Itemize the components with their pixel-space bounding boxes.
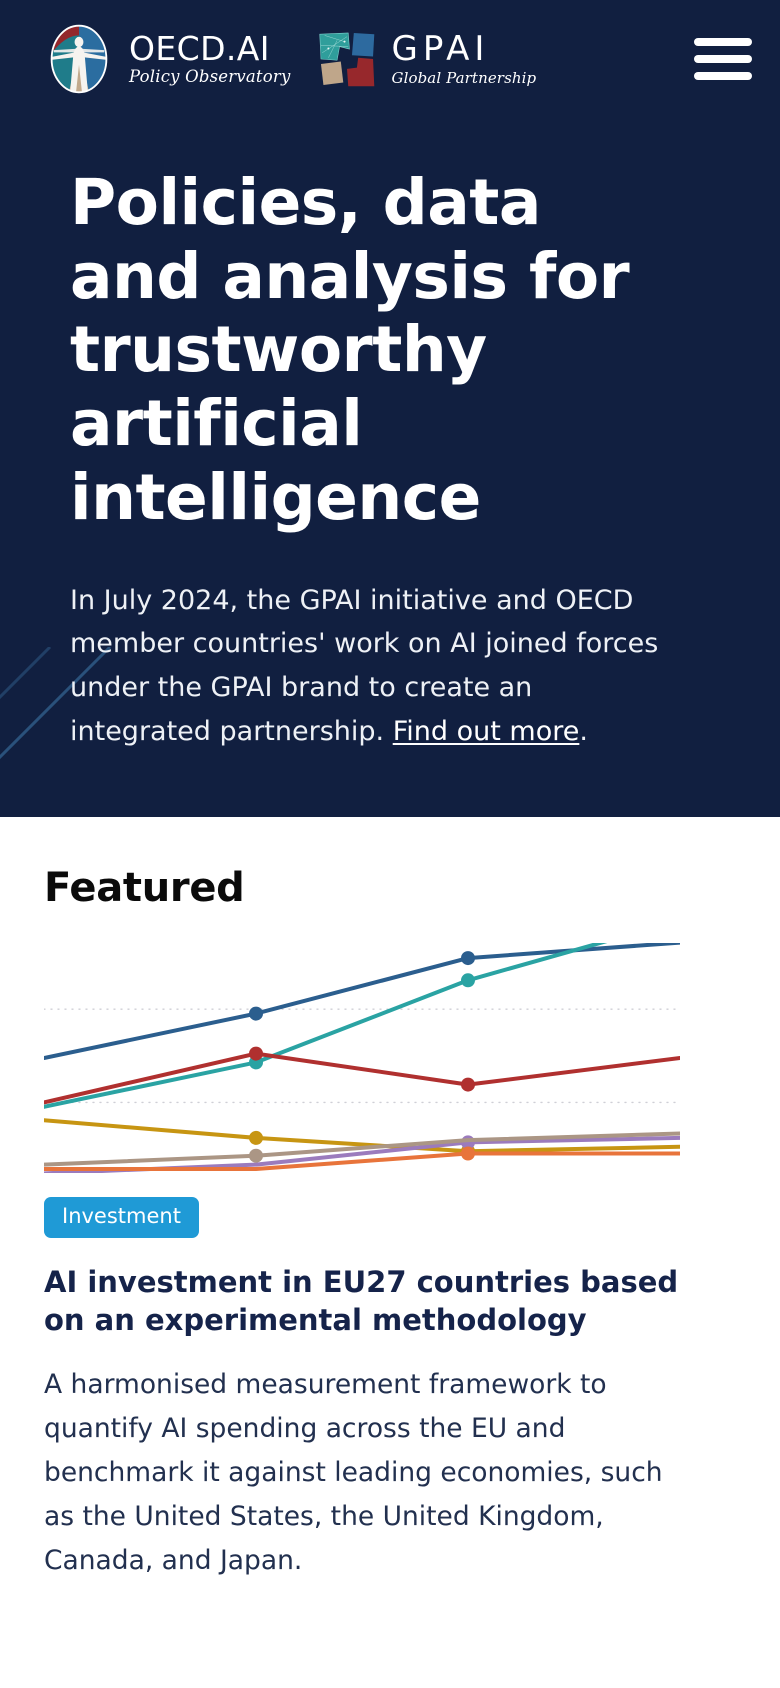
line-chart: [44, 943, 680, 1173]
oecd-logo-tagline: Policy Observatory: [129, 69, 290, 86]
brand-group: OECD.AI Policy Observatory GPA: [42, 22, 536, 96]
series-line-0: [44, 943, 680, 1058]
find-out-more-link[interactable]: Find out more: [393, 716, 580, 747]
series-marker-0-1: [249, 1007, 263, 1021]
hamburger-bar-3: [694, 72, 752, 80]
series-marker-2-2: [461, 1078, 475, 1092]
oecd-logo-name: OECD.AI: [129, 32, 290, 65]
gpai-emblem-icon: [316, 28, 378, 90]
hamburger-bar-1: [694, 38, 752, 46]
hero-paragraph-text-after: .: [579, 716, 588, 747]
gpai-logo-link[interactable]: GPAI Global Partnership: [316, 28, 536, 90]
featured-card-description: A harmonised measurement framework to qu…: [44, 1363, 674, 1583]
series-marker-3-1: [249, 1131, 263, 1145]
series-marker-5-1: [249, 1149, 263, 1163]
featured-heading: Featured: [44, 865, 736, 911]
featured-card[interactable]: Investment AI investment in EU27 countri…: [44, 943, 736, 1582]
hero-section: OECD.AI Policy Observatory GPA: [0, 0, 780, 817]
hero-paragraph: In July 2024, the GPAI initiative and OE…: [70, 579, 670, 754]
page-title: Policies, data and analysis for trustwor…: [70, 166, 630, 535]
hamburger-menu-icon[interactable]: [694, 38, 752, 80]
oecd-emblem-icon: [42, 22, 116, 96]
oecd-ai-logo-link[interactable]: OECD.AI Policy Observatory: [42, 22, 290, 96]
featured-card-title[interactable]: AI investment in EU27 countries based on…: [44, 1264, 684, 1338]
series-marker-2-1: [249, 1047, 263, 1061]
hamburger-bar-2: [694, 55, 752, 63]
status-badge[interactable]: Investment: [44, 1197, 199, 1238]
gpai-logo-tagline: Global Partnership: [391, 71, 536, 86]
gpai-logo-name: GPAI: [391, 32, 536, 66]
series-line-2: [44, 1054, 680, 1103]
series-marker-1-2: [461, 974, 475, 988]
featured-chart-image[interactable]: [44, 943, 680, 1173]
series-marker-6-2: [461, 1147, 475, 1161]
hero-content: Policies, data and analysis for trustwor…: [0, 118, 780, 753]
top-navigation-bar: OECD.AI Policy Observatory GPA: [0, 0, 780, 118]
series-marker-0-2: [461, 952, 475, 966]
featured-section: Featured Investment AI investment in EU2…: [0, 817, 780, 1582]
